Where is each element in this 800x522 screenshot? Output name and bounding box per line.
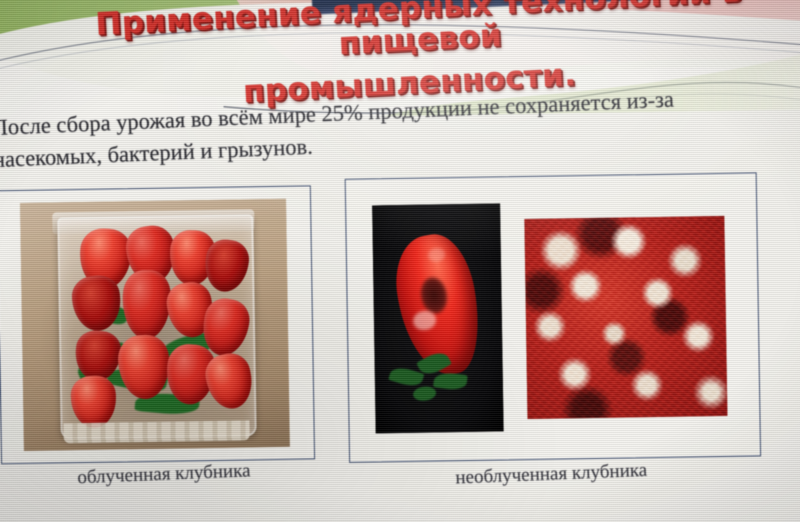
rot-lesion: [418, 275, 450, 316]
projected-slide-photo: Применение ядерных технологий в пищевой …: [0, 0, 800, 522]
photo-irradiated-strawberries-punnet: [20, 199, 290, 451]
texture-grain-overlay: [524, 216, 727, 419]
specular-highlight: [426, 246, 445, 263]
figure-frame-non-irradiated: newsnet.ru: [345, 172, 761, 462]
photo-spoiled-strawberry-mass: newsnet.ru: [524, 216, 727, 419]
caption-irradiated: облученная клубника: [77, 460, 251, 489]
clamshell-base: [63, 420, 249, 443]
figure-frame-irradiated: [0, 185, 315, 464]
photo-spoiled-single-strawberry: [372, 203, 504, 433]
presentation-slide: Применение ядерных технологий в пищевой …: [0, 0, 800, 522]
caption-non-irradiated: необлученная клубника: [455, 460, 648, 490]
